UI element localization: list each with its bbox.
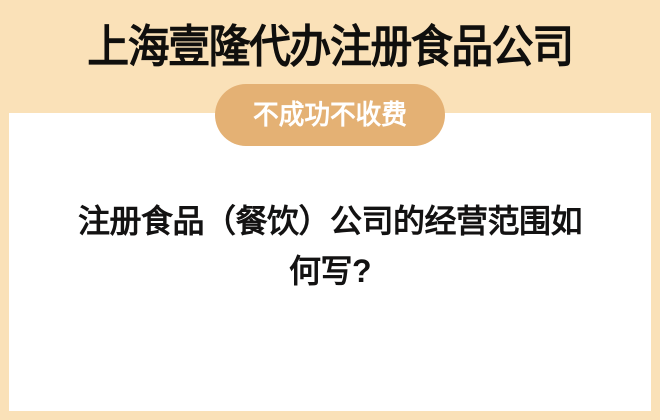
company-title: 上海壹隆代办注册食品公司	[23, 22, 637, 72]
guarantee-badge-label: 不成功不收费	[253, 100, 407, 130]
headline-line-2: 何写?	[36, 246, 624, 296]
headline: 注册食品（餐饮）公司的经营范围如 何写?	[36, 196, 624, 296]
guarantee-badge: 不成功不收费	[215, 84, 445, 146]
headline-line-1: 注册食品（餐饮）公司的经营范围如	[36, 196, 624, 246]
poster-root: 上海壹隆代办注册食品公司 不成功不收费 注册食品（餐饮）公司的经营范围如 何写?	[0, 0, 660, 420]
